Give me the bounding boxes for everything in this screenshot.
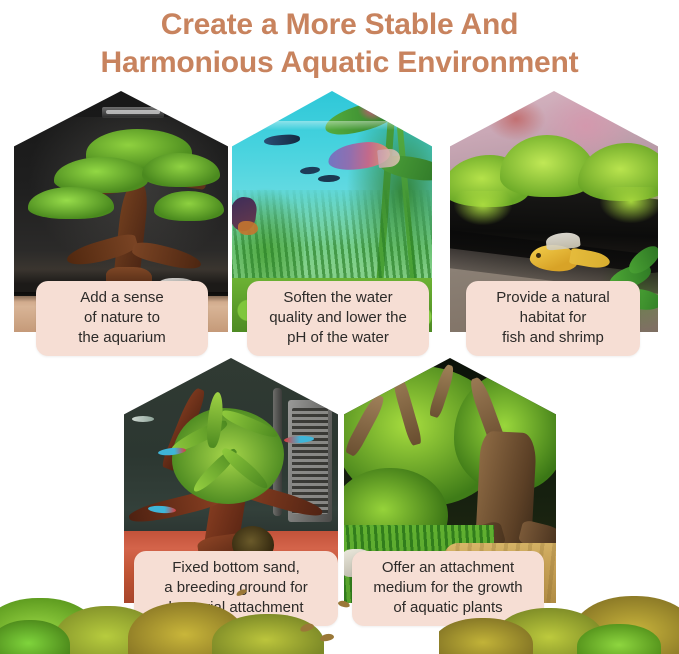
caption-line: Fixed bottom sand, xyxy=(143,558,329,578)
caption-line: Provide a natural xyxy=(475,288,631,308)
water-surface-highlight xyxy=(232,121,432,130)
fish-neon-tetra-d xyxy=(132,416,154,422)
fish-small-a xyxy=(300,166,321,175)
caption-line: habitat for xyxy=(475,308,631,328)
caption-planted-tank: Soften the water quality and lower the p… xyxy=(247,281,429,356)
page-title: Create a More Stable And Harmonious Aqua… xyxy=(0,0,679,82)
caption-line: Offer an attachment xyxy=(361,558,535,578)
page-title-line-1: Create a More Stable And xyxy=(0,6,679,44)
caption-moss-driftwood: Provide a natural habitat for fish and s… xyxy=(466,281,640,356)
caption-line: quality and lower the xyxy=(256,308,420,328)
moss-fringe-left xyxy=(454,191,512,225)
background-blur-red xyxy=(486,97,546,141)
moss-canopy-lowleft xyxy=(28,187,114,219)
caption-line: pH of the water xyxy=(256,328,420,348)
caption-line: Soften the water xyxy=(256,288,420,308)
grass-midground xyxy=(232,190,432,286)
fish-yellow-eye xyxy=(536,253,541,258)
page-title-line-2: Harmonious Aquatic Environment xyxy=(0,44,679,82)
fish-angel-fin xyxy=(238,221,258,235)
moss-fringe-right xyxy=(600,187,658,223)
fish-dark-upper xyxy=(264,134,301,146)
aquarium-light-glow xyxy=(106,110,160,114)
caption-line: the aquarium xyxy=(45,328,199,348)
caption-line: of nature to xyxy=(45,308,199,328)
red-plant-accent xyxy=(358,99,388,121)
caption-line: fish and shrimp xyxy=(475,328,631,348)
caption-bonsai: Add a sense of nature to the aquarium xyxy=(36,281,208,356)
fish-small-b xyxy=(318,174,340,182)
bottom-moss-border-right xyxy=(439,576,679,654)
caption-line: Add a sense xyxy=(45,288,199,308)
bottom-moss-border-left xyxy=(0,576,330,654)
poster-canvas: Create a More Stable And Harmonious Aqua… xyxy=(0,0,679,654)
